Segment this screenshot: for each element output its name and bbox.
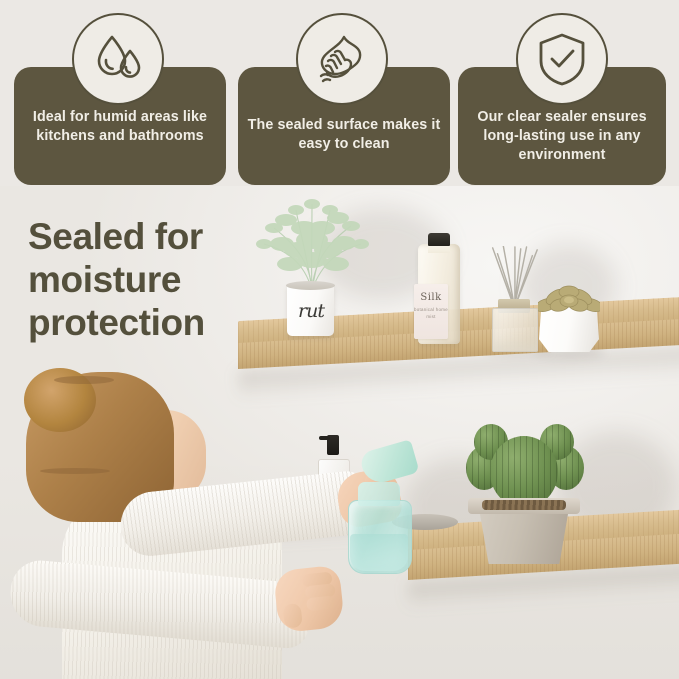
dispenser-spout bbox=[319, 436, 330, 440]
potted-greenery-icon bbox=[252, 198, 372, 290]
spray-bottle-shoulder bbox=[358, 482, 400, 506]
hand-wiping-cloth-icon bbox=[296, 13, 388, 105]
thumb bbox=[282, 603, 302, 629]
bottle-label-title: Silk bbox=[414, 292, 448, 303]
bottle-label-sub: botanical home mist bbox=[414, 307, 448, 320]
feature-card-strip: Ideal for humid areas like kitchens and … bbox=[0, 0, 679, 195]
spray-bottle-liquid bbox=[350, 534, 408, 571]
feature-card-text: Ideal for humid areas like kitchens and … bbox=[22, 108, 218, 146]
succulent-plant-icon bbox=[538, 283, 600, 315]
spray-bottle bbox=[336, 438, 426, 578]
cactus-in-terracotta-pot bbox=[460, 422, 590, 557]
diffuser-jar bbox=[492, 308, 538, 352]
bottle-cap bbox=[428, 233, 450, 246]
feature-card-text: The sealed surface makes it easy to clea… bbox=[246, 116, 442, 154]
page-headline: Sealed for moisture protection bbox=[28, 216, 258, 345]
bottle-label: Silk botanical home mist bbox=[414, 284, 448, 339]
amber-glass-bottle: Silk botanical home mist bbox=[418, 244, 460, 344]
spray-bottle-nozzle bbox=[358, 439, 419, 487]
cactus-soil-pebbles bbox=[482, 500, 566, 510]
pot-rim bbox=[286, 281, 335, 290]
hair-strand bbox=[54, 376, 114, 384]
shield-check-icon bbox=[516, 13, 608, 105]
finger bbox=[306, 595, 335, 611]
feature-card-text: Our clear sealer ensures long-lasting us… bbox=[466, 108, 658, 165]
hair-strand bbox=[40, 468, 110, 474]
pot-script-label: rut bbox=[291, 300, 331, 322]
water-droplets-icon bbox=[72, 13, 164, 105]
infographic-canvas: rut Silk botanical home mist bbox=[0, 0, 679, 679]
